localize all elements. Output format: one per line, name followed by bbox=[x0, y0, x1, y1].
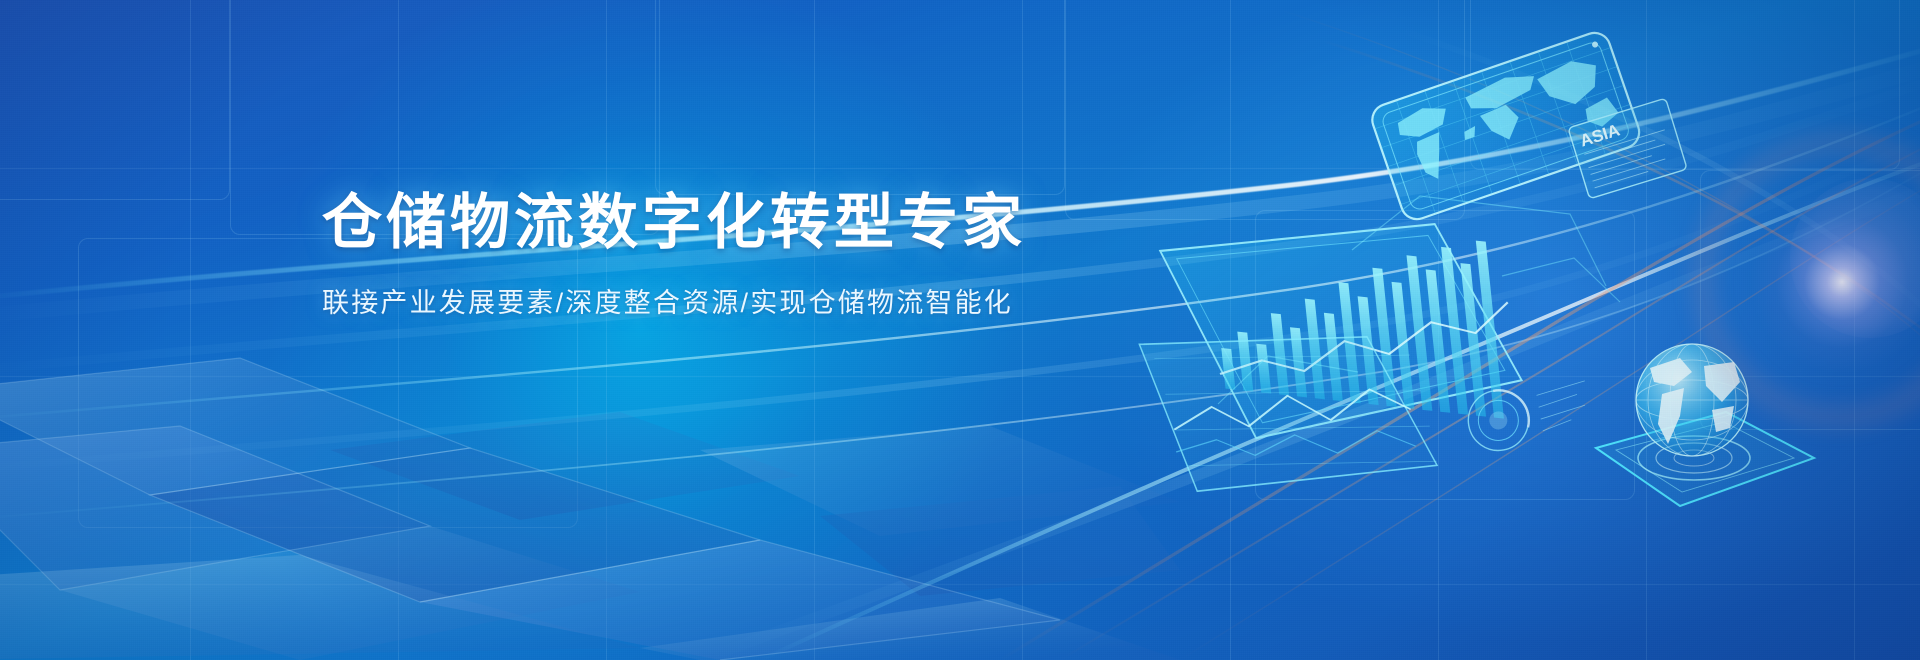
grid-box bbox=[0, 0, 230, 200]
hero-banner: ASIA bbox=[0, 0, 1920, 660]
holo-panel-label: ASIA bbox=[1578, 120, 1622, 150]
lens-flare-orb bbox=[1790, 178, 1920, 338]
hologram-cluster-graphic: ASIA bbox=[1100, 0, 1920, 660]
lens-flare bbox=[1752, 192, 1920, 372]
grid-box bbox=[655, 0, 1065, 195]
grid-box bbox=[1470, 0, 1900, 170]
lens-flare-ring bbox=[1690, 130, 1920, 430]
facet-plane-graphic bbox=[0, 330, 1180, 660]
banner-copy: 仓储物流数字化转型专家 联接产业发展要素/深度整合资源/实现仓储物流智能化 bbox=[322, 186, 1082, 322]
grid-box bbox=[1255, 210, 1635, 500]
banner-headline: 仓储物流数字化转型专家 bbox=[322, 186, 1082, 259]
grid-box bbox=[1700, 170, 1920, 430]
banner-subheadline: 联接产业发展要素/深度整合资源/实现仓储物流智能化 bbox=[322, 285, 1082, 321]
grid-box bbox=[1065, 0, 1465, 220]
